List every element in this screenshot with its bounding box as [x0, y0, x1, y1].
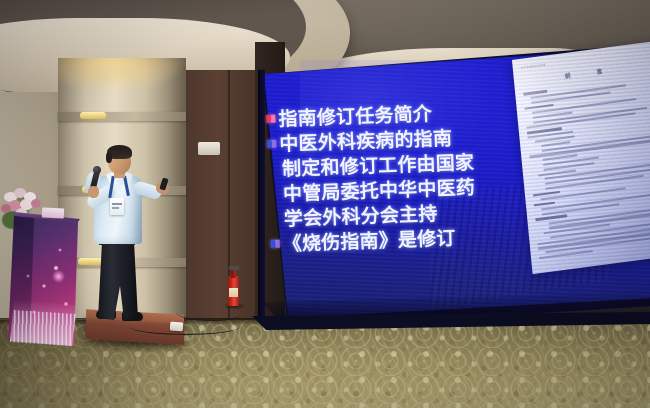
column-uplight-glow: [58, 58, 186, 92]
column-accent-light-icon: [78, 258, 104, 265]
fire-extinguisher-neck: [231, 270, 236, 278]
microphone-head-icon: [93, 166, 101, 174]
floor-power-outlet: [170, 322, 184, 332]
wall-mounted-device: [198, 142, 220, 155]
column-accent-light-icon: [80, 112, 106, 119]
speaker-right-hand: [88, 186, 99, 198]
bullet-square-icon: [267, 139, 276, 147]
document-text-line: [534, 201, 556, 206]
podium-sparkle-graphic: [8, 216, 78, 346]
speaker-hair-side: [106, 152, 112, 163]
conference-photo-scene: 中华中医药学会标准 前 言: [0, 0, 650, 408]
fire-extinguisher-label: [229, 288, 238, 297]
bullet-square-icon: [271, 239, 280, 247]
badge-text-line: [112, 203, 122, 205]
slide-document-image: 中华中医药学会标准 前 言: [512, 40, 650, 274]
bullet-square-icon: [266, 114, 275, 122]
led-wall-left-edge: [258, 70, 265, 322]
slide-text-block: 指南修订任务简介 中医外科疾病的指南 制定和修订工作由国家 中管局委托中华中医药…: [266, 98, 511, 256]
podium-star-icon: [52, 270, 65, 283]
badge-text-line: [112, 207, 119, 209]
column-band: [58, 112, 186, 121]
podium-name-plate: [42, 207, 64, 218]
fire-extinguisher-handle: [229, 266, 239, 270]
